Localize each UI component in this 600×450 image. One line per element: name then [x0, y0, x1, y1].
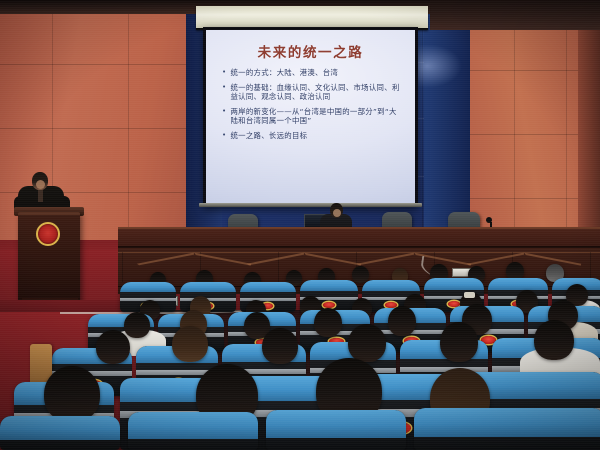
hair-clip	[464, 292, 475, 298]
seat-cushion	[488, 278, 548, 290]
seat-cushion	[0, 416, 120, 440]
slide-bullet: • 统一的基础：血缘认同、文化认同、市场认同、利益认同、观念认同、政治认同	[222, 83, 403, 102]
projector-screen-bottom-bar	[199, 203, 422, 207]
audience-head	[352, 266, 369, 283]
audience-head	[348, 324, 386, 362]
seat-cushion	[300, 280, 358, 291]
bullet-marker-icon: •	[222, 83, 226, 102]
slide-bullet: • 统一之路、长远的目标	[222, 131, 403, 141]
audience-head	[124, 312, 150, 338]
slide-bullet-list: • 统一的方式：大陆、港澳、台湾 • 统一的基础：血缘认同、文化认同、市场认同、…	[206, 68, 415, 141]
seat-cushion	[414, 408, 600, 437]
bullet-marker-icon: •	[222, 68, 226, 78]
slide-bullet-text: 统一的基础：血缘认同、文化认同、市场认同、利益认同、观念认同、政治认同	[230, 83, 403, 102]
seat-cushion	[424, 278, 484, 290]
lecture-hall-photo: 未来的统一之路 • 统一的方式：大陆、港澳、台湾 • 统一的基础：血缘认同、文化…	[0, 0, 600, 450]
bullet-marker-icon: •	[222, 107, 226, 126]
audience-head	[388, 306, 416, 336]
projected-slide: 未来的统一之路 • 统一的方式：大陆、港澳、台湾 • 统一的基础：血缘认同、文化…	[206, 30, 415, 204]
auditorium-seat	[0, 416, 120, 450]
seat-cushion	[266, 410, 406, 438]
seat-cushion	[240, 282, 296, 292]
moderator-face	[333, 209, 341, 217]
auditorium-seat	[414, 408, 600, 450]
seat-cushion	[362, 280, 420, 291]
slide-bullet-text: 统一的方式：大陆、港澳、台湾	[230, 68, 403, 78]
audience-head	[172, 326, 208, 362]
ceiling-band-right	[430, 0, 600, 30]
podium-emblem-icon	[36, 222, 60, 246]
seat-cushion	[128, 412, 258, 439]
audience-head	[314, 308, 342, 337]
slide-bullet-text: 统一之路、长远的目标	[230, 131, 403, 141]
audience-head	[96, 330, 130, 364]
slide-title: 未来的统一之路	[206, 41, 415, 61]
audience-head	[44, 366, 100, 422]
auditorium-seat	[128, 412, 258, 450]
slide-bullet: • 统一的方式：大陆、港澳、台湾	[222, 68, 403, 78]
audience-head	[534, 320, 574, 360]
slide-bullet-text: 两岸的新变化——从“台湾是中国的一部分”到“大陆和台湾同属一个中国”	[230, 107, 403, 126]
auditorium-seat	[266, 410, 406, 450]
right-wall-return	[578, 14, 600, 250]
bullet-marker-icon: •	[222, 131, 226, 141]
seat-stripe	[240, 298, 296, 301]
audience-head	[440, 322, 478, 362]
microphone-icon	[486, 217, 492, 223]
audience-head	[262, 328, 298, 364]
slide-bullet: • 两岸的新变化——从“台湾是中国的一部分”到“大陆和台湾同属一个中国”	[222, 107, 403, 126]
seat-cushion	[120, 282, 176, 292]
speaker-face	[36, 180, 45, 189]
seat-cushion	[180, 282, 236, 292]
speaker-tie	[38, 190, 43, 202]
